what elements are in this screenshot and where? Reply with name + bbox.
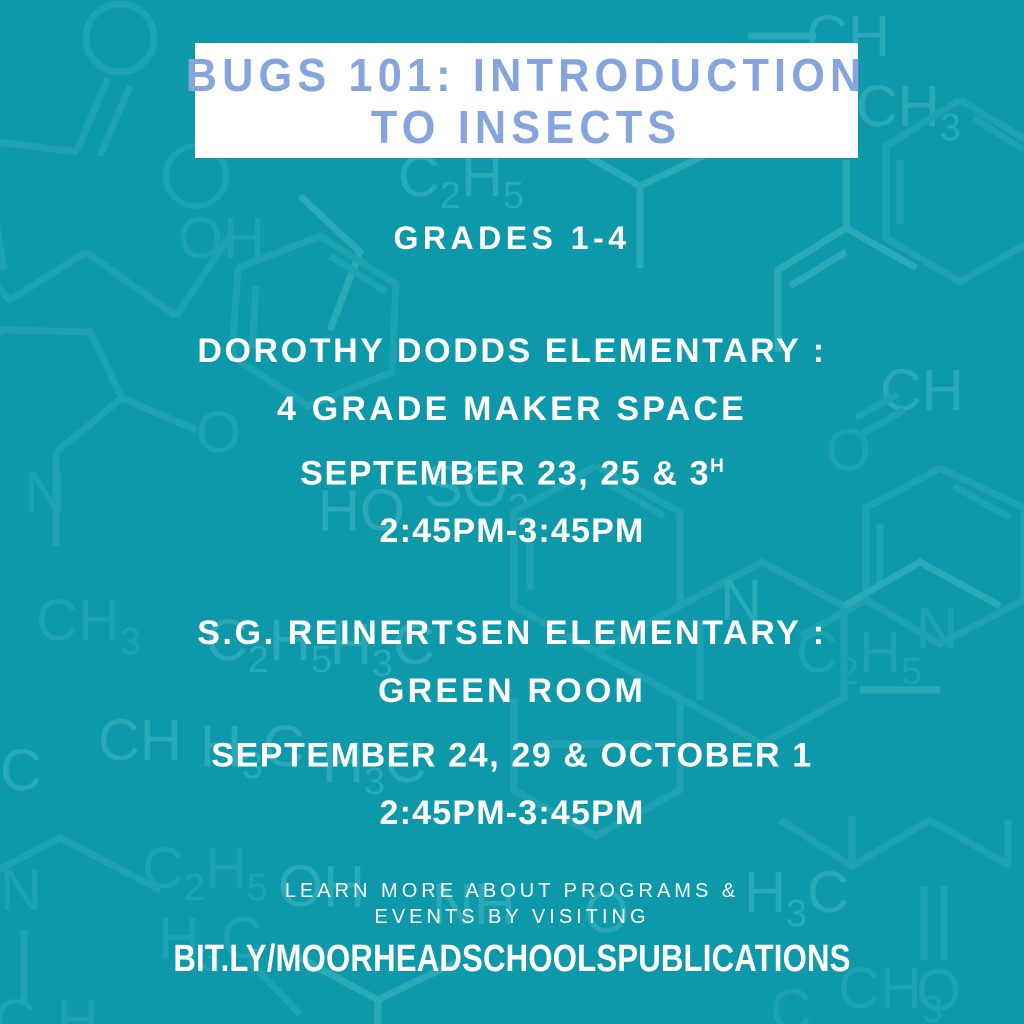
footer-caption-line-2: EVENTS BY VISITING <box>0 904 1024 930</box>
session-dates-main: SEPTEMBER 23, 25 & 3 <box>300 454 710 492</box>
session-school-name: DOROTHY DODDS ELEMENTARY : <box>0 322 1024 380</box>
title-plaque: BUGS 101: INTRODUCTION TO INSECTS <box>195 43 858 158</box>
session-school-name: S.G. REINERTSEN ELEMENTARY : <box>0 604 1024 662</box>
footer-caption-line-1: LEARN MORE ABOUT PROGRAMS & <box>0 878 1024 904</box>
session-dates: SEPTEMBER 24, 29 & OCTOBER 1 <box>0 720 1024 784</box>
footer: LEARN MORE ABOUT PROGRAMS & EVENTS BY VI… <box>0 878 1024 980</box>
title-line-2: TO INSECTS <box>371 101 681 153</box>
session-time: 2:45PM-3:45PM <box>0 502 1024 560</box>
session-dates: SEPTEMBER 23, 25 & 3H <box>0 438 1024 502</box>
poster-canvas: .ln { stroke:#1ea2b1; stroke-width:7; fi… <box>0 0 1024 1024</box>
title-line-1: BUGS 101: INTRODUCTION <box>186 49 867 101</box>
session-time: 2:45PM-3:45PM <box>0 784 1024 842</box>
footer-url-link[interactable]: BIT.LY/MOORHEADSCHOOLSPUBLICATIONS <box>92 938 932 980</box>
session-block-dodds: DOROTHY DODDS ELEMENTARY : 4 GRADE MAKER… <box>0 322 1024 560</box>
session-block-reinertsen: S.G. REINERTSEN ELEMENTARY : GREEN ROOM … <box>0 604 1024 842</box>
session-room: GREEN ROOM <box>0 662 1024 720</box>
session-room: 4 GRADE MAKER SPACE <box>0 380 1024 438</box>
session-dates-ordinal-suffix: H <box>710 456 724 477</box>
session-dates-main: SEPTEMBER 24, 29 & OCTOBER 1 <box>211 736 813 774</box>
grades-line: GRADES 1-4 <box>0 218 1024 258</box>
